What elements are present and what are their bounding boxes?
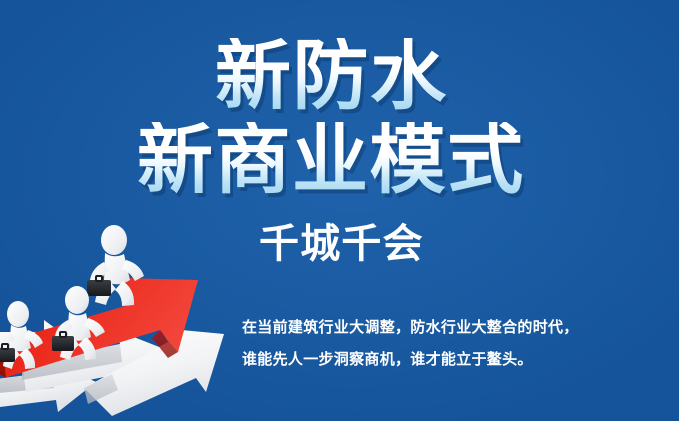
body-copy: 在当前建筑行业大调整，防水行业大整合的时代， 谁能先人一步洞察商机，谁才能立于鳌…: [242, 311, 642, 375]
body-line-1: 在当前建筑行业大调整，防水行业大整合的时代，: [242, 311, 642, 343]
body-line-2: 谁能先人一步洞察商机，谁才能立于鳌头。: [242, 343, 642, 375]
promo-banner: 新防水 新商业模式 千城千会 在当前建筑行业大调整，防水行业大整合的时代， 谁能…: [0, 0, 679, 421]
headline-line-2: 新商业模式: [137, 122, 525, 198]
illustration-businessmen-arrows: [0, 212, 242, 421]
headline-line-1: 新防水: [215, 38, 448, 114]
subtitle: 千城千会: [259, 224, 424, 264]
